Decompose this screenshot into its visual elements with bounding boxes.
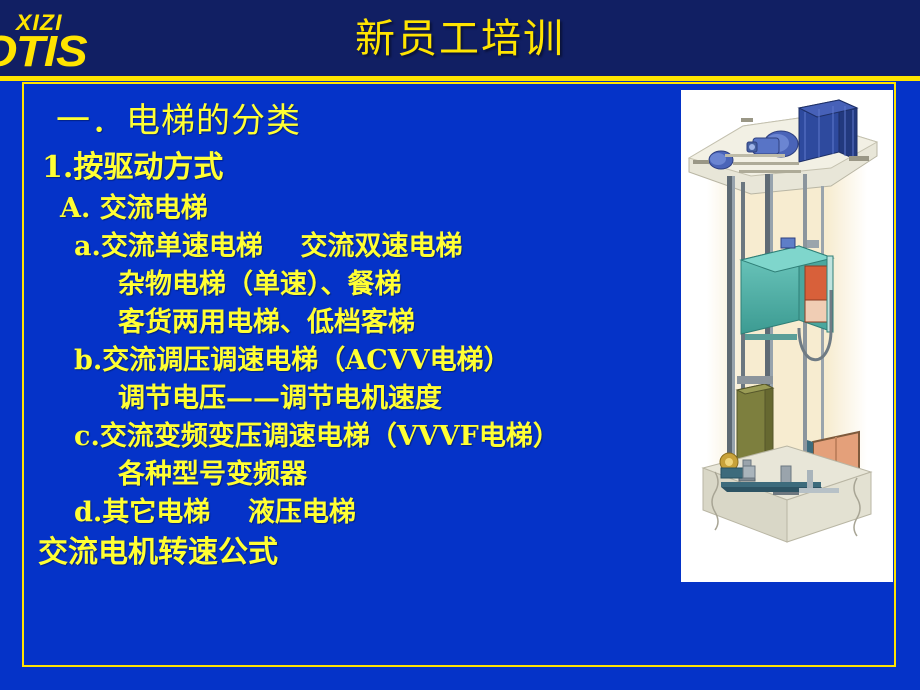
content-body: 一．电梯的分类 1.按驱动方式 A. 交流电梯 a.交流单速电梯 交流双速电梯 … [38, 96, 698, 574]
list-item-a-title: A. 交流电梯 [38, 190, 698, 228]
control-cabinet [799, 100, 857, 162]
xizi-otis-logo: XIZI OTIS [0, 12, 146, 74]
slide-root: XIZI OTIS 新员工培训 一．电梯的分类 1.按驱动方式 A. 交流电梯 … [0, 0, 920, 690]
footer-formula-label: 交流电机转速公式 [38, 532, 698, 574]
list-item-c1: c.交流变频变压调速电梯（VVVF电梯） [38, 418, 698, 456]
logo-otis-text: OTIS [0, 30, 87, 74]
page-title: 新员工培训 [320, 14, 600, 64]
section-subheading: 1.按驱动方式 [38, 146, 698, 190]
car-door-panel [805, 266, 827, 300]
list-item-a2: 杂物电梯（单速）、餐梯 [38, 266, 698, 304]
list-item-c2: 各种型号变频器 [38, 456, 698, 494]
list-item-a1: a.交流单速电梯 交流双速电梯 [38, 228, 698, 266]
list-item-a3: 客货两用电梯、低档客梯 [38, 304, 698, 342]
list-item-b1: b.交流调压调速电梯（ACVV电梯） [38, 342, 698, 380]
list-item-b2: 调节电压——调节电机速度 [38, 380, 698, 418]
elevator-cutaway-diagram [681, 90, 893, 582]
elevator-diagram-svg [681, 90, 893, 582]
header-divider [0, 76, 920, 81]
section-heading: 一．电梯的分类 [38, 96, 698, 146]
list-item-d1: d.其它电梯 液压电梯 [38, 494, 698, 532]
